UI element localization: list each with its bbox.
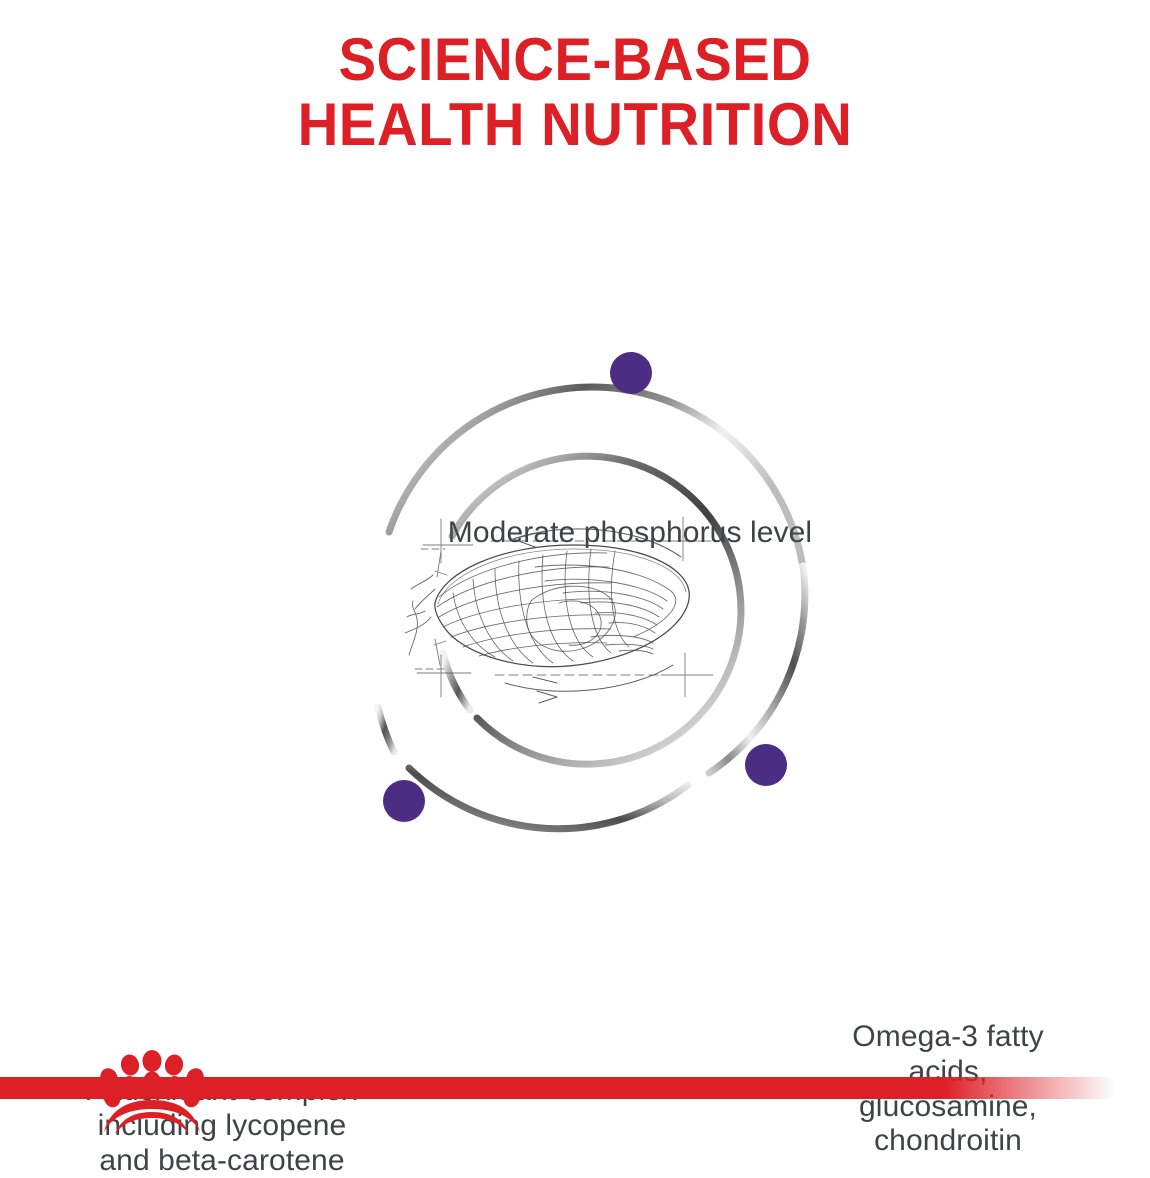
node-dot-bottom-left[interactable] bbox=[383, 780, 425, 822]
callout-moderate-phosphorus: Moderate phosphorus level bbox=[330, 516, 930, 551]
page-title-line-1: SCIENCE-BASED bbox=[35, 28, 1116, 93]
royal-canin-crown-logo bbox=[88, 1048, 216, 1134]
page-title-line-2: HEALTH NUTRITION bbox=[35, 93, 1116, 158]
node-dot-right[interactable] bbox=[745, 744, 787, 786]
node-dot-top[interactable] bbox=[610, 352, 652, 394]
nutrition-diagram: Moderate phosphorus level Antioxidant co… bbox=[0, 240, 1150, 960]
page-title: SCIENCE-BASED HEALTH NUTRITION bbox=[0, 28, 1150, 158]
outer-ring-arc-bottom bbox=[409, 768, 688, 829]
callout-line: Moderate phosphorus level bbox=[330, 516, 930, 551]
brand-footer bbox=[0, 1030, 1150, 1150]
outer-ring-arc-lower-left bbox=[378, 707, 394, 752]
